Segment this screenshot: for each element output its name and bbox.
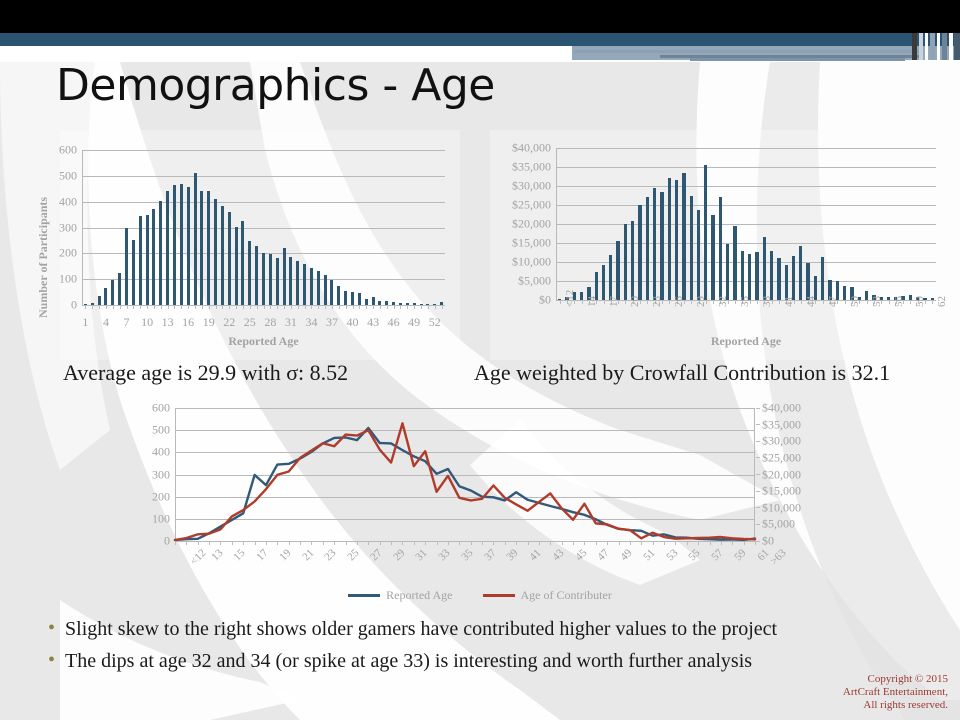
chart1-x-tick (421, 305, 422, 309)
chart2-x-tick (845, 300, 846, 304)
chart1-bar (118, 273, 121, 305)
chart2-x-tick (647, 300, 648, 304)
chart1-x-tick (318, 305, 319, 309)
chart2-x-tick-label: 20 (629, 296, 641, 307)
chart1-x-tick (229, 305, 230, 309)
chart3-y-right-tick-label: $25,000 (762, 450, 801, 465)
bullet-text: The dips at age 32 and 34 (or spike at a… (65, 647, 752, 675)
chart1-x-tick-label: 31 (285, 315, 297, 330)
chart3-x-tick-label: 47 (596, 547, 612, 563)
chart2-bar (653, 188, 656, 300)
chart1-x-tick (380, 305, 381, 309)
chart2-y-tick-label: $40,000 (512, 141, 551, 156)
chart3-x-tick-label: 45 (573, 547, 589, 563)
chart1-bar (303, 264, 306, 305)
chart3-y-right-tick-label: $30,000 (762, 434, 801, 449)
chart1-y-tick-label: 0 (71, 298, 77, 313)
chart1-bar (262, 253, 265, 305)
chart2-x-tick (867, 300, 868, 304)
chart1-x-tick (284, 305, 285, 309)
chart1-bar (214, 199, 217, 305)
chart1-plot-area: 0100200300400500600147101316192225283134… (82, 150, 445, 305)
chart2-x-tick (735, 300, 736, 304)
caption-average-age: Average age is 29.9 with σ: 8.52 (63, 360, 348, 386)
chart1-x-tick-label: 10 (141, 315, 153, 330)
chart3-x-tick-label: 15 (232, 547, 248, 563)
chart1-x-tick (373, 305, 374, 309)
chart1-x-tick-label: 49 (408, 315, 420, 330)
chart3-legend-label: Age of Contributer (521, 588, 612, 603)
chart3-y-left-tick-label: 0 (164, 534, 170, 549)
chart1-x-tick-label: 16 (182, 315, 194, 330)
header-black-band (0, 0, 960, 33)
chart1-bar (255, 246, 258, 305)
chart2-x-tick-label: 32 (717, 296, 729, 307)
chart2-bar (785, 265, 788, 300)
chart1-x-tick (428, 305, 429, 309)
chart3-legend-label: Reported Age (386, 588, 452, 603)
chart2-bar (646, 197, 649, 300)
chart3-y-left-tick-label: 500 (152, 423, 170, 438)
chart3-y-right-tick (756, 457, 760, 458)
chart2-bar (638, 205, 641, 300)
chart2-bar (580, 292, 583, 300)
chart1-bar (296, 261, 299, 305)
chart2-x-tick-label: 17 (608, 296, 620, 307)
chart1-gridline (82, 202, 445, 203)
chart1-bar (241, 221, 244, 305)
chart2-bar (763, 237, 766, 300)
chart3-x-tick-label: 17 (254, 547, 270, 563)
chart1-x-tick (188, 305, 189, 309)
chart1-x-tick (113, 305, 114, 309)
chart1-x-tick-label: 22 (223, 315, 235, 330)
chart1-y-tick-label: 200 (59, 246, 77, 261)
chart3-y-right-tick-label: $20,000 (762, 467, 801, 482)
chart1-x-tick-label: 25 (244, 315, 256, 330)
chart1-x-tick-label: 1 (82, 315, 88, 330)
chart2-bar (690, 196, 693, 301)
header-right-black-cap (912, 0, 960, 33)
chart1-bar (111, 280, 114, 305)
chart2-gridline (556, 167, 936, 168)
chart2-bar (675, 180, 678, 300)
chart1-gridline (82, 228, 445, 229)
chart3-y-left-tick-label: 300 (152, 467, 170, 482)
chart3-y-right-tick (756, 441, 760, 442)
chart3-y-right-tick-label: $5,000 (762, 517, 795, 532)
chart2-gridline (556, 243, 936, 244)
chart1-x-tick (85, 305, 86, 309)
chart3-x-tick-label: 19 (277, 547, 293, 563)
chart2-bar (719, 197, 722, 300)
chart1-x-tick (291, 305, 292, 309)
chart1-bar (173, 185, 176, 305)
chart2-x-tick (801, 300, 802, 304)
chart2-x-tick-label: 44 (805, 296, 817, 307)
chart1-x-tick (407, 305, 408, 309)
chart1-y-tick-label: 300 (59, 220, 77, 235)
chart1-x-tick (270, 305, 271, 309)
chart1-x-tick (106, 305, 107, 309)
chart2-gridline (556, 262, 936, 263)
chart1-x-tick (140, 305, 141, 309)
chart3-x-tick-label: 23 (323, 547, 339, 563)
chart2-bar (711, 215, 714, 301)
chart1-gridline (82, 176, 445, 177)
chart1-bar (146, 215, 149, 305)
chart2-bar (631, 221, 634, 300)
chart1-bar (132, 240, 135, 305)
chart1-x-tick (298, 305, 299, 309)
chart3-y-left-tick-label: 100 (152, 511, 170, 526)
chart2-gridline (556, 224, 936, 225)
chart1-bar (187, 187, 190, 305)
chart1-bar (330, 280, 333, 305)
chart2-bar (726, 244, 729, 300)
chart2-bar (755, 252, 758, 300)
chart3-x-tick-label: >63 (768, 547, 789, 568)
chart1-x-tick (127, 305, 128, 309)
chart1-bar (194, 173, 197, 305)
chart3-x-tick-label: 53 (664, 547, 680, 563)
chart3-x-tick-label: 41 (527, 547, 543, 563)
chart3-x-tick-label: 61 (755, 547, 771, 563)
chart3-x-tick-label: 35 (459, 547, 475, 563)
copyright-line: All rights reserved. (843, 699, 948, 712)
chart2-gridline (556, 205, 936, 206)
chart1-bar (283, 248, 286, 305)
chart2-x-tick (910, 300, 911, 304)
chart1-bar (221, 206, 224, 305)
chart1-x-tick (250, 305, 251, 309)
chart3-x-tick-label: 21 (300, 547, 316, 563)
bullet-list: •Slight skew to the right shows older ga… (48, 615, 938, 679)
chart2-plot-area: $0$5,000$10,000$15,000$20,000$25,000$30,… (556, 148, 936, 300)
chart1-x-tick (168, 305, 169, 309)
chart1-x-tick (154, 305, 155, 309)
chart2-bar (682, 173, 685, 300)
bullet-dot-icon: • (48, 647, 55, 673)
chart1-bar (358, 293, 361, 305)
chart2-bar (609, 255, 612, 300)
chart3-x-tick-label: 27 (368, 547, 384, 563)
chart1-bar (317, 271, 320, 305)
chart1-bar (159, 201, 162, 305)
chart2-y-tick-label: $15,000 (512, 236, 551, 251)
caption-weighted-age: Age weighted by Crowfall Contribution is… (474, 360, 890, 386)
chart1-bar (248, 241, 251, 305)
copyright-notice: Copyright © 2015ArtCraft Entertainment,A… (843, 673, 948, 712)
list-item: •Slight skew to the right shows older ga… (48, 615, 938, 643)
chart2-x-tick-label: 14 (586, 296, 598, 307)
chart1-x-tick (305, 305, 306, 309)
chart2-bar (668, 178, 671, 300)
chart1-x-tick (209, 305, 210, 309)
chart1-x-tick (332, 305, 333, 309)
chart1-bar (351, 292, 354, 305)
chart2-x-tick (889, 300, 890, 304)
chart1-bar (152, 209, 155, 305)
chart2-bar (624, 224, 627, 300)
chart3-y-right-tick-label: $0 (762, 534, 774, 549)
chart1-bar (337, 286, 340, 305)
chart3-x-tick-label: 59 (732, 547, 748, 563)
chart1-x-axis-title: Reported Age (82, 334, 445, 349)
chart1-y-tick-label: 100 (59, 272, 77, 287)
chart1-x-tick (435, 305, 436, 309)
chart1-bar (276, 258, 279, 305)
chart2-bar (799, 246, 802, 300)
chart1-bar (207, 191, 210, 305)
chart3-series-lines (175, 408, 755, 543)
header-blue-band (0, 33, 960, 46)
chart3-x-tick-label: 37 (482, 547, 498, 563)
chart1-x-tick (264, 305, 265, 309)
chart1-bar (139, 216, 142, 305)
chart1-x-tick (222, 305, 223, 309)
chart1-x-tick-label: 28 (264, 315, 276, 330)
chart1-x-tick (346, 305, 347, 309)
chart2-x-tick-label: 26 (673, 296, 685, 307)
chart3-legend-item: Age of Contributer (483, 588, 612, 603)
chart2-gridline (556, 148, 936, 149)
chart1-x-tick (387, 305, 388, 309)
chart3-y-right-tick (756, 507, 760, 508)
chart3-legend: Reported AgeAge of Contributer (0, 588, 960, 603)
chart2-y-tick-label: $0 (539, 293, 551, 308)
chart2-y-tick-label: $35,000 (512, 160, 551, 175)
chart2-bar (660, 192, 663, 300)
chart3-y-right-tick-label: $15,000 (762, 484, 801, 499)
chart3-x-tick-label: 31 (414, 547, 430, 563)
chart3-y-left-tick-label: 600 (152, 401, 170, 416)
chart3-x-tick-label: 51 (641, 547, 657, 563)
chart1-x-tick-label: 7 (124, 315, 130, 330)
chart3-y-right-tick (756, 408, 760, 409)
chart2-bar (602, 265, 605, 300)
slide-root: Demographics - Age Number of Participant… (0, 0, 960, 720)
chart2-x-tick (823, 300, 824, 304)
chart1-x-tick (181, 305, 182, 309)
chart1-x-tick (133, 305, 134, 309)
chart2-x-tick (560, 300, 561, 304)
header-accent-line-1 (575, 50, 920, 53)
chart2-y-tick-label: $20,000 (512, 217, 551, 232)
chart1-bar (125, 228, 128, 305)
chart3-y-right-tick (756, 424, 760, 425)
chart2-x-tick (625, 300, 626, 304)
chart2-bar (616, 241, 619, 300)
chart1-y-tick-label: 400 (59, 194, 77, 209)
chart2-bar (821, 257, 824, 300)
chart1-x-tick (277, 305, 278, 309)
chart1-x-tick-label: 19 (203, 315, 215, 330)
chart1-bar (228, 212, 231, 305)
chart3-x-tick (755, 541, 756, 545)
chart1-x-tick-label: 46 (388, 315, 400, 330)
chart1-x-tick (257, 305, 258, 309)
chart1-bar (200, 191, 203, 305)
chart1-x-tick (394, 305, 395, 309)
chart1-x-tick (311, 305, 312, 309)
chart2-bar (770, 251, 773, 300)
chart3-plot-area: 0100200300400500600$0$5,000$10,000$15,00… (175, 408, 755, 541)
chart3-line-reported-age (175, 428, 755, 540)
chart1-bar (372, 297, 375, 305)
chart3-legend-swatch (483, 594, 515, 597)
chart3-legend-item: Reported Age (348, 588, 452, 603)
chart2-x-tick-label: <12 (564, 290, 576, 307)
chart2-x-tick-label: 41 (783, 296, 795, 307)
chart2-x-tick-label: 23 (651, 296, 663, 307)
chart1-x-tick (359, 305, 360, 309)
chart3-x-tick-label: <12 (188, 547, 209, 568)
chart3-x-tick-label: 25 (345, 547, 361, 563)
chart1-x-tick (325, 305, 326, 309)
page-title: Demographics - Age (56, 60, 495, 111)
chart2-y-tick-label: $10,000 (512, 255, 551, 270)
chart1-gridline (82, 150, 445, 151)
chart1-x-tick-label: 37 (326, 315, 338, 330)
chart1-x-tick-label: 40 (347, 315, 359, 330)
chart1-x-tick-label: 4 (103, 315, 109, 330)
chart1-bar (166, 191, 169, 305)
chart1-x-tick (400, 305, 401, 309)
chart1-x-tick-label: 13 (162, 315, 174, 330)
chart2-gridline (556, 281, 936, 282)
chart2-x-tick (604, 300, 605, 304)
chart2-x-tick (669, 300, 670, 304)
chart1-bar (269, 254, 272, 305)
chart2-x-tick (932, 300, 933, 304)
chart1-x-tick (216, 305, 217, 309)
chart2-bar (748, 254, 751, 300)
chart2-y-tick-label: $30,000 (512, 179, 551, 194)
chart2-x-tick-label: 62 (936, 296, 948, 307)
chart1-y-axis-title: Number of Participants (36, 148, 51, 318)
chart2-bar (697, 210, 700, 300)
chart1-y-tick-label: 500 (59, 168, 77, 183)
chart2-x-tick (691, 300, 692, 304)
list-item: •The dips at age 32 and 34 (or spike at … (48, 647, 938, 675)
chart3-x-tick-label: 13 (209, 547, 225, 563)
chart3-y-right-tick-label: $10,000 (762, 500, 801, 515)
chart2-x-tick-label: 47 (827, 296, 839, 307)
chart2-bar (865, 291, 868, 301)
chart2-bar (704, 165, 707, 300)
chart1-x-tick (147, 305, 148, 309)
chart2-x-tick-label: 59 (914, 296, 926, 307)
chart1-bar (98, 296, 101, 305)
chart1-bar (289, 257, 292, 305)
chart2-x-tick (779, 300, 780, 304)
chart3-y-right-tick-label: $40,000 (762, 401, 801, 416)
chart1-x-tick-label: 34 (305, 315, 317, 330)
copyright-line: ArtCraft Entertainment, (843, 686, 948, 699)
chart1-bar (180, 184, 183, 305)
chart2-gridline (556, 186, 936, 187)
chart2-x-tick-label: 53 (871, 296, 883, 307)
chart1-x-tick (99, 305, 100, 309)
chart2-x-tick (713, 300, 714, 304)
chart2-x-tick (757, 300, 758, 304)
chart1-x-tick (442, 305, 443, 309)
chart3-x-tick-label: 43 (550, 547, 566, 563)
chart2-y-tick-label: $5,000 (518, 274, 551, 289)
chart3-x-tick-label: 33 (436, 547, 452, 563)
chart1-x-tick (174, 305, 175, 309)
chart2-bar (741, 251, 744, 300)
chart1-x-tick (414, 305, 415, 309)
chart2-x-axis-title: Reported Age (556, 334, 936, 349)
chart3-x-tick-label: 39 (505, 547, 521, 563)
chart3-x-tick-label: 55 (687, 547, 703, 563)
chart2-bar (733, 226, 736, 300)
chart2-y-tick-label: $25,000 (512, 198, 551, 213)
chart1-y-tick-label: 600 (59, 143, 77, 158)
chart1-bar (310, 268, 313, 305)
chart1-x-tick (366, 305, 367, 309)
chart2-bar (777, 258, 780, 300)
chart1-x-tick-label: 52 (429, 315, 441, 330)
chart3-y-right-tick (756, 524, 760, 525)
chart3-legend-swatch (348, 594, 380, 597)
chart2-x-tick-label: 50 (849, 296, 861, 307)
chart1-x-tick-label: 43 (367, 315, 379, 330)
header-white-mask (0, 46, 572, 60)
chart1-x-tick (161, 305, 162, 309)
chart3-x-tick-label: 57 (709, 547, 725, 563)
chart1-x-tick (120, 305, 121, 309)
chart2-x-tick-label: 29 (695, 296, 707, 307)
chart3-y-right-tick (756, 491, 760, 492)
chart1-bar (235, 227, 238, 305)
chart2-bar (806, 263, 809, 300)
chart3-y-left-tick-label: 400 (152, 445, 170, 460)
copyright-line: Copyright © 2015 (843, 673, 948, 686)
chart2-x-tick (582, 300, 583, 304)
chart1-x-tick (353, 305, 354, 309)
bullet-dot-icon: • (48, 615, 55, 641)
chart1-x-tick (92, 305, 93, 309)
chart3-y-right-tick (756, 541, 760, 542)
chart2-x-tick-label: 35 (739, 296, 751, 307)
header-accent-line-3 (690, 58, 905, 61)
chart1-bar (104, 288, 107, 305)
chart3-y-right-tick (756, 474, 760, 475)
chart1-x-tick (202, 305, 203, 309)
chart2-x-tick-label: 38 (761, 296, 773, 307)
chart3-y-right-tick-label: $35,000 (762, 417, 801, 432)
chart1-x-tick (339, 305, 340, 309)
chart3-x-tick-label: 49 (618, 547, 634, 563)
chart2-bar (792, 256, 795, 300)
chart1-x-tick (236, 305, 237, 309)
chart3-y-left-tick-label: 200 (152, 489, 170, 504)
chart2-bar (843, 286, 846, 300)
chart1-y-axis-line (82, 150, 83, 305)
chart2-y-axis-line (556, 148, 557, 300)
chart1-bar (344, 291, 347, 305)
chart2-x-tick-label: 56 (893, 296, 905, 307)
chart1-x-tick (195, 305, 196, 309)
chart1-bar (324, 275, 327, 305)
bullet-text: Slight skew to the right shows older gam… (65, 615, 777, 643)
chart1-x-tick (243, 305, 244, 309)
chart3-x-tick-label: 29 (391, 547, 407, 563)
